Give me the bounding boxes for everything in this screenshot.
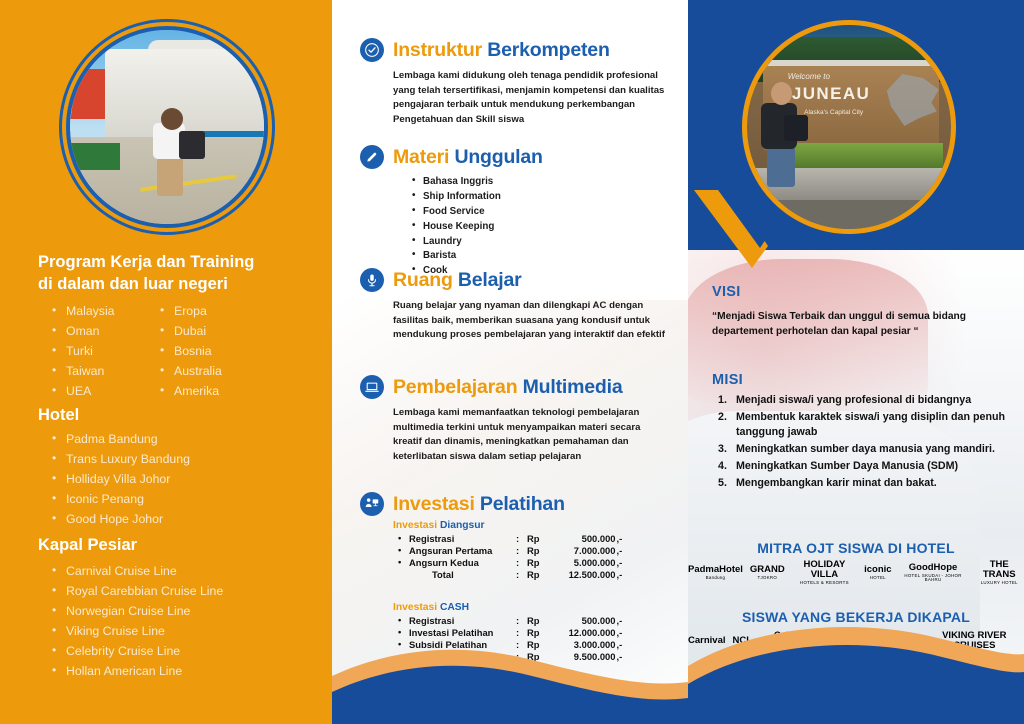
section-ruang-belajar: Ruang Belajar Ruang belajar yang nyaman … xyxy=(360,268,670,343)
list-item: Food Service xyxy=(412,205,670,220)
program-title-line2: di dalam dan luar negeri xyxy=(38,274,318,296)
investasi-diangsur-table: Registrasi:Rp500.000,-Angsuran Pertama:R… xyxy=(398,533,622,580)
list-item: Hollan American Line xyxy=(52,662,314,682)
list-item: Good Hope Johor xyxy=(52,510,302,530)
table-row: Angsurn Kedua:Rp5.000.000,- xyxy=(398,557,622,569)
visi-heading: VISI xyxy=(712,284,1012,300)
price-currency: Rp xyxy=(527,568,540,580)
section-header: Investasi Pelatihan xyxy=(360,492,670,516)
section-header: Instruktur Berkompeten xyxy=(360,38,670,62)
hotel-partner-logo: iconicHOTEL xyxy=(864,565,891,580)
section-header: Ruang Belajar xyxy=(360,268,670,292)
price-suffix: ,- xyxy=(616,568,623,580)
logo-subtext: HOTELS & RESORTS xyxy=(800,581,849,585)
center-column: Instruktur Berkompeten Lembaga kami didu… xyxy=(332,0,688,724)
table-row: Registrasi:Rp500.000,- xyxy=(398,615,622,627)
teacher-presentation-icon xyxy=(360,492,384,516)
price-label: Total xyxy=(398,568,516,580)
section-title: Pembelajaran Multimedia xyxy=(393,376,622,399)
section-materi-unggulan: Materi Unggulan Bahasa InggrisShip Infor… xyxy=(360,145,670,279)
price-currency: Rp xyxy=(527,557,540,569)
list-item: Laundry xyxy=(412,235,670,250)
list-item: Mengembangkan karir minat dan bakat. xyxy=(718,476,1012,492)
title-orange: Ruang xyxy=(393,269,458,291)
section-header: Materi Unggulan xyxy=(360,145,670,169)
price-suffix: ,- xyxy=(616,557,623,569)
program-title-line1: Program Kerja dan Training xyxy=(38,252,318,274)
table-row: Registrasi:Rp500.000,- xyxy=(398,533,622,545)
misi-list: Menjadi siswa/i yang profesional di bida… xyxy=(718,393,1012,491)
price-colon: : xyxy=(516,568,527,580)
list-item: Menjadi siswa/i yang profesional di bida… xyxy=(718,393,1012,409)
title-blue: Berkompeten xyxy=(487,39,609,61)
list-item: UEA xyxy=(52,382,138,402)
title-blue: Pelatihan xyxy=(480,493,565,515)
price-suffix: ,- xyxy=(616,533,623,545)
logo-subtext: Bandung xyxy=(706,576,726,580)
price-colon: : xyxy=(516,557,527,569)
kapal-pesiar-list: Carnival Cruise LineRoyal Carebbian Crui… xyxy=(52,562,314,681)
sign-line-welcome: Welcome to xyxy=(788,72,956,81)
investasi-diangsur-label: Investasi Diangsur xyxy=(393,520,670,531)
photo-person-legs xyxy=(767,147,795,187)
logo-subtext: HOTEL SKUDAI - JOHOR BAHRU xyxy=(899,574,968,583)
title-orange: Instruktur xyxy=(393,39,487,61)
list-item: Iconic Penang xyxy=(52,490,302,510)
title-orange: Pembelajaran xyxy=(393,376,523,398)
list-item: Taiwan xyxy=(52,362,138,382)
section-body: Lembaga kami memanfaatkan teknologi pemb… xyxy=(393,406,670,464)
hotel-partners-heading: MITRA OJT SISWA DI HOTEL xyxy=(688,540,1024,556)
price-colon: : xyxy=(516,615,527,627)
hotel-partner-logo: GoodHopeHOTEL SKUDAI - JOHOR BAHRU xyxy=(899,563,968,583)
section-investasi-pelatihan: Investasi Pelatihan Investasi Diangsur R… xyxy=(360,492,670,580)
student-at-juneau-sign-photo: Welcome to JUNEAU Alaska's Capital City xyxy=(742,20,956,234)
sign-line-capital: Alaska's Capital City xyxy=(804,109,956,116)
table-row: Angsuran Pertama:Rp7.000.000,- xyxy=(398,545,622,557)
brochure-page: Program Kerja dan Training di dalam dan … xyxy=(0,0,1024,724)
hotel-partner-logo: PadmaHotelBandung xyxy=(688,565,743,580)
section-title: Investasi Pelatihan xyxy=(393,493,565,516)
photo-grass xyxy=(70,143,120,170)
price-label: Angsurn Kedua xyxy=(398,557,516,569)
list-item: Trans Luxury Bandung xyxy=(52,450,302,470)
list-item: Celebrity Cruise Line xyxy=(52,642,314,662)
price-amount: 5.000.000 xyxy=(540,557,616,569)
section-body: Ruang belajar yang nyaman dan dilengkapi… xyxy=(393,299,670,343)
price-suffix: ,- xyxy=(616,545,623,557)
logo-name: GRAND xyxy=(750,565,785,575)
price-amount: 12.500.000 xyxy=(540,568,616,580)
list-item: Norwegian Cruise Line xyxy=(52,602,314,622)
hotel-heading: Hotel xyxy=(38,406,79,425)
list-item: Padma Bandung xyxy=(52,430,302,450)
pencil-icon xyxy=(360,145,384,169)
program-title: Program Kerja dan Training di dalam dan … xyxy=(38,252,318,296)
logo-subtext: HOTEL xyxy=(870,576,886,580)
photo-person-head xyxy=(161,108,183,130)
countries-column-2: EropaDubaiBosniaAustraliaAmerika xyxy=(160,302,246,402)
list-item: Meningkatkan Sumber Daya Manusia (SDM) xyxy=(718,459,1012,475)
price-label: Registrasi xyxy=(398,615,516,627)
section-title: Ruang Belajar xyxy=(393,269,522,292)
kapal-pesiar-heading: Kapal Pesiar xyxy=(38,536,137,555)
right-bottom-wave xyxy=(688,604,1024,724)
price-currency: Rp xyxy=(527,533,540,545)
title-blue: Belajar xyxy=(458,269,522,291)
sign-line-juneau: JUNEAU xyxy=(792,84,956,104)
left-orange-panel: Program Kerja dan Training di dalam dan … xyxy=(0,0,332,724)
hotel-partner-logo: THE TRANSLUXURY HOTEL xyxy=(975,560,1024,585)
list-item: Viking Cruise Line xyxy=(52,622,314,642)
section-header: Pembelajaran Multimedia xyxy=(360,375,670,399)
check-circle-icon xyxy=(360,38,384,62)
hotel-partner-logo: HOLIDAY VILLAHOTELS & RESORTS xyxy=(792,560,857,585)
section-title: Instruktur Berkompeten xyxy=(393,39,610,62)
logo-subtext: LUXURY HOTEL xyxy=(981,581,1018,585)
price-amount: 500.000 xyxy=(540,615,616,627)
price-colon: : xyxy=(516,533,527,545)
hotel-list: Padma BandungTrans Luxury BandungHollida… xyxy=(52,430,302,530)
microphone-icon xyxy=(360,268,384,292)
logo-name: THE TRANS xyxy=(975,560,1024,579)
price-currency: Rp xyxy=(527,545,540,557)
section-title: Materi Unggulan xyxy=(393,146,543,169)
photo-tote-bag xyxy=(784,115,808,141)
price-suffix: ,- xyxy=(616,615,623,627)
photo-tote-bag xyxy=(179,131,205,159)
title-orange: Materi xyxy=(393,146,454,168)
label-orange: Investasi xyxy=(393,520,440,531)
list-item: Royal Carebbian Cruise Line xyxy=(52,582,314,602)
photo-person-legs xyxy=(157,158,183,196)
section-instruktur-berkompeten: Instruktur Berkompeten Lembaga kami didu… xyxy=(360,38,670,127)
countries-column-1: MalaysiaOmanTurkiTaiwanUEA xyxy=(52,302,138,402)
list-item: Australia xyxy=(160,362,246,382)
list-item: Dubai xyxy=(160,322,246,342)
list-item: Bosnia xyxy=(160,342,246,362)
logo-name: PadmaHotel xyxy=(688,565,743,575)
photo-ground xyxy=(747,200,951,229)
list-item: Carnival Cruise Line xyxy=(52,562,314,582)
section-pembelajaran-multimedia: Pembelajaran Multimedia Lembaga kami mem… xyxy=(360,375,670,464)
list-item: Ship Information xyxy=(412,190,670,205)
list-item: Malaysia xyxy=(52,302,138,322)
visi-text: “Menjadi Siswa Terbaik dan unggul di sem… xyxy=(712,309,1012,340)
hotel-partner-logo: GRANDTJOKRO xyxy=(750,565,785,580)
right-column: Welcome to JUNEAU Alaska's Capital City … xyxy=(688,0,1024,724)
laptop-icon xyxy=(360,375,384,399)
materi-unggulan-list: Bahasa InggrisShip InformationFood Servi… xyxy=(412,175,670,279)
logo-name: HOLIDAY VILLA xyxy=(792,560,857,579)
logo-name: GoodHope xyxy=(909,563,958,573)
misi-block: MISI Menjadi siswa/i yang profesional di… xyxy=(712,372,1012,492)
hotel-partner-logos: PadmaHotelBandungGRANDTJOKROHOLIDAY VILL… xyxy=(688,560,1024,585)
photo-ship xyxy=(105,49,268,142)
price-colon: : xyxy=(516,545,527,557)
price-label: Angsuran Pertama xyxy=(398,545,516,557)
list-item: Membentuk karaktek siswa/i yang disiplin… xyxy=(718,410,1012,441)
list-item: Amerika xyxy=(160,382,246,402)
student-at-cruise-port-photo xyxy=(66,26,268,228)
misi-heading: MISI xyxy=(712,372,1012,388)
list-item: Barista xyxy=(412,249,670,264)
price-amount: 500.000 xyxy=(540,533,616,545)
price-label: Registrasi xyxy=(398,533,516,545)
visi-block: VISI “Menjadi Siswa Terbaik dan unggul d… xyxy=(712,284,1012,340)
list-item: Holliday Villa Johor xyxy=(52,470,302,490)
center-bottom-wave xyxy=(332,630,688,724)
price-currency: Rp xyxy=(527,615,540,627)
list-item: Bahasa Inggris xyxy=(412,175,670,190)
list-item: Oman xyxy=(52,322,138,342)
list-item: House Keeping xyxy=(412,220,670,235)
title-blue: Multimedia xyxy=(523,376,623,398)
table-row: Total:Rp12.500.000,- xyxy=(398,568,622,580)
logo-name: iconic xyxy=(864,565,891,575)
label-blue: Diangsur xyxy=(440,520,485,531)
list-item: Eropa xyxy=(160,302,246,322)
title-orange: Investasi xyxy=(393,493,480,515)
countries-columns: MalaysiaOmanTurkiTaiwanUEA EropaDubaiBos… xyxy=(52,302,246,402)
list-item: Meningkatkan sumber daya manusia yang ma… xyxy=(718,442,1012,458)
label-blue: CASH xyxy=(440,602,469,613)
title-blue: Unggulan xyxy=(454,146,542,168)
label-orange: Investasi xyxy=(393,602,440,613)
section-body: Lembaga kami didukung oleh tenaga pendid… xyxy=(393,69,670,127)
price-amount: 7.000.000 xyxy=(540,545,616,557)
list-item: Turki xyxy=(52,342,138,362)
logo-subtext: TJOKRO xyxy=(758,576,778,580)
investasi-cash-label: Investasi CASH xyxy=(393,602,670,613)
